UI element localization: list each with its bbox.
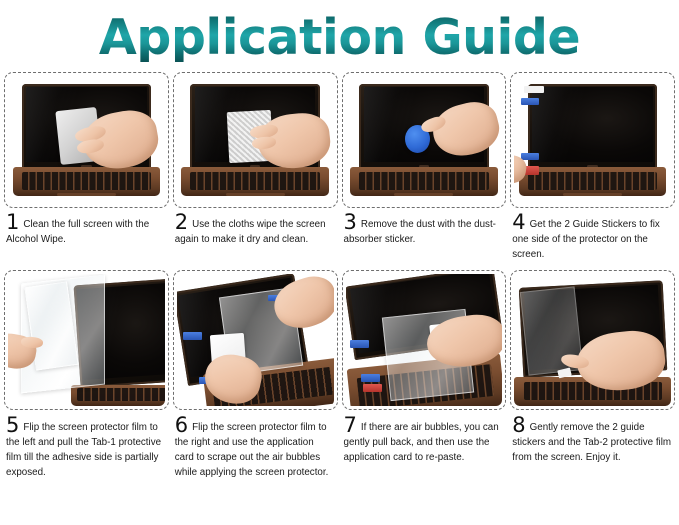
guide-sticker-top bbox=[521, 98, 540, 106]
step-number-1: 1 bbox=[6, 210, 19, 234]
step-number-2: 2 bbox=[175, 210, 188, 234]
step-caption-5: 5Flip the screen protector film to the l… bbox=[4, 410, 169, 481]
laptop-base bbox=[519, 167, 666, 196]
step-number-3: 3 bbox=[344, 210, 357, 234]
laptop-illustration bbox=[519, 84, 666, 197]
step-image-frame-2 bbox=[173, 72, 338, 208]
step-image-frame-7 bbox=[342, 270, 507, 410]
step-text-5: Flip the screen protector film to the le… bbox=[6, 422, 161, 479]
step-number-4: 4 bbox=[512, 210, 525, 234]
laptop-keyboard bbox=[528, 172, 658, 190]
tab-1-red bbox=[363, 384, 382, 392]
step-text-3: Remove the dust with the dust-absorber s… bbox=[344, 219, 496, 245]
step-number-8: 8 bbox=[512, 413, 525, 437]
step-photo-6 bbox=[177, 274, 334, 406]
laptop-base bbox=[181, 167, 328, 196]
step-photo-8 bbox=[514, 274, 671, 406]
step-image-frame-8 bbox=[510, 270, 675, 410]
laptop-keyboard bbox=[359, 172, 489, 190]
laptop-keyboard bbox=[77, 388, 165, 401]
steps-row-bottom: 5Flip the screen protector film to the l… bbox=[2, 270, 677, 481]
laptop-front-lip bbox=[57, 193, 116, 196]
laptop-base bbox=[71, 385, 165, 406]
step-number-6: 6 bbox=[175, 413, 188, 437]
step-text-1: Clean the full screen with the Alcohol W… bbox=[6, 219, 149, 245]
step-photo-3 bbox=[346, 76, 503, 204]
step-photo-5 bbox=[8, 274, 165, 406]
laptop-front-lip bbox=[394, 193, 453, 196]
laptop-base bbox=[13, 167, 160, 196]
step-caption-8: 8Gently remove the 2 guide stickers and … bbox=[510, 410, 675, 466]
step-card-1: 1Clean the full screen with the Alcohol … bbox=[2, 72, 171, 263]
laptop-front-lip bbox=[226, 193, 285, 196]
screen-glare bbox=[532, 87, 604, 162]
laptop-front-lip bbox=[563, 193, 622, 196]
step-card-7: 7If there are air bubbles, you can gentl… bbox=[340, 270, 509, 481]
step-card-3: 3Remove the dust with the dust-absorber … bbox=[340, 72, 509, 263]
step-card-6: 6Flip the screen protector film to the r… bbox=[171, 270, 340, 481]
step-image-frame-1 bbox=[4, 72, 169, 208]
laptop-keyboard bbox=[190, 172, 320, 190]
protector-tab-white bbox=[524, 86, 544, 92]
step-image-frame-5 bbox=[4, 270, 169, 410]
step-photo-4 bbox=[514, 76, 671, 204]
steps-row-top: 1Clean the full screen with the Alcohol … bbox=[2, 72, 677, 263]
step-image-frame-4 bbox=[510, 72, 675, 208]
page-title: Application Guide bbox=[99, 13, 580, 62]
laptop-screen bbox=[532, 87, 653, 162]
step-text-2: Use the cloths wipe the screen again to … bbox=[175, 219, 326, 245]
guide-sticker-top bbox=[183, 332, 202, 340]
guide-sticker-top bbox=[350, 340, 369, 348]
step-caption-3: 3Remove the dust with the dust-absorber … bbox=[342, 208, 507, 247]
laptop-base bbox=[350, 167, 497, 196]
step-photo-7 bbox=[346, 274, 503, 406]
step-text-8: Gently remove the 2 guide stickers and t… bbox=[512, 422, 671, 463]
header: Application Guide bbox=[0, 0, 679, 72]
step-number-5: 5 bbox=[6, 413, 19, 437]
step-image-frame-6 bbox=[173, 270, 338, 410]
step-image-frame-3 bbox=[342, 72, 507, 208]
step-text-6: Flip the screen protector film to the ri… bbox=[175, 422, 329, 479]
step-text-4: Get the 2 Guide Stickers to fix one side… bbox=[512, 219, 660, 260]
step-card-4: 4Get the 2 Guide Stickers to fix one sid… bbox=[508, 72, 677, 263]
step-caption-4: 4Get the 2 Guide Stickers to fix one sid… bbox=[510, 208, 675, 263]
step-caption-1: 1Clean the full screen with the Alcohol … bbox=[4, 208, 169, 247]
step-photo-1 bbox=[8, 76, 165, 204]
step-caption-6: 6Flip the screen protector film to the r… bbox=[173, 410, 338, 481]
step-text-7: If there are air bubbles, you can gently… bbox=[344, 422, 499, 463]
laptop-keyboard bbox=[22, 172, 152, 190]
step-number-7: 7 bbox=[344, 413, 357, 437]
step-card-8: 8Gently remove the 2 guide stickers and … bbox=[508, 270, 677, 481]
step-card-2: 2Use the cloths wipe the screen again to… bbox=[171, 72, 340, 263]
step-photo-2 bbox=[177, 76, 334, 204]
laptop-lid bbox=[528, 84, 658, 170]
steps-grid: 1Clean the full screen with the Alcohol … bbox=[0, 72, 679, 480]
step-caption-7: 7If there are air bubbles, you can gentl… bbox=[342, 410, 507, 466]
step-card-5: 5Flip the screen protector film to the l… bbox=[2, 270, 171, 481]
guide-sticker-bottom bbox=[361, 374, 380, 382]
step-caption-2: 2Use the cloths wipe the screen again to… bbox=[173, 208, 338, 247]
